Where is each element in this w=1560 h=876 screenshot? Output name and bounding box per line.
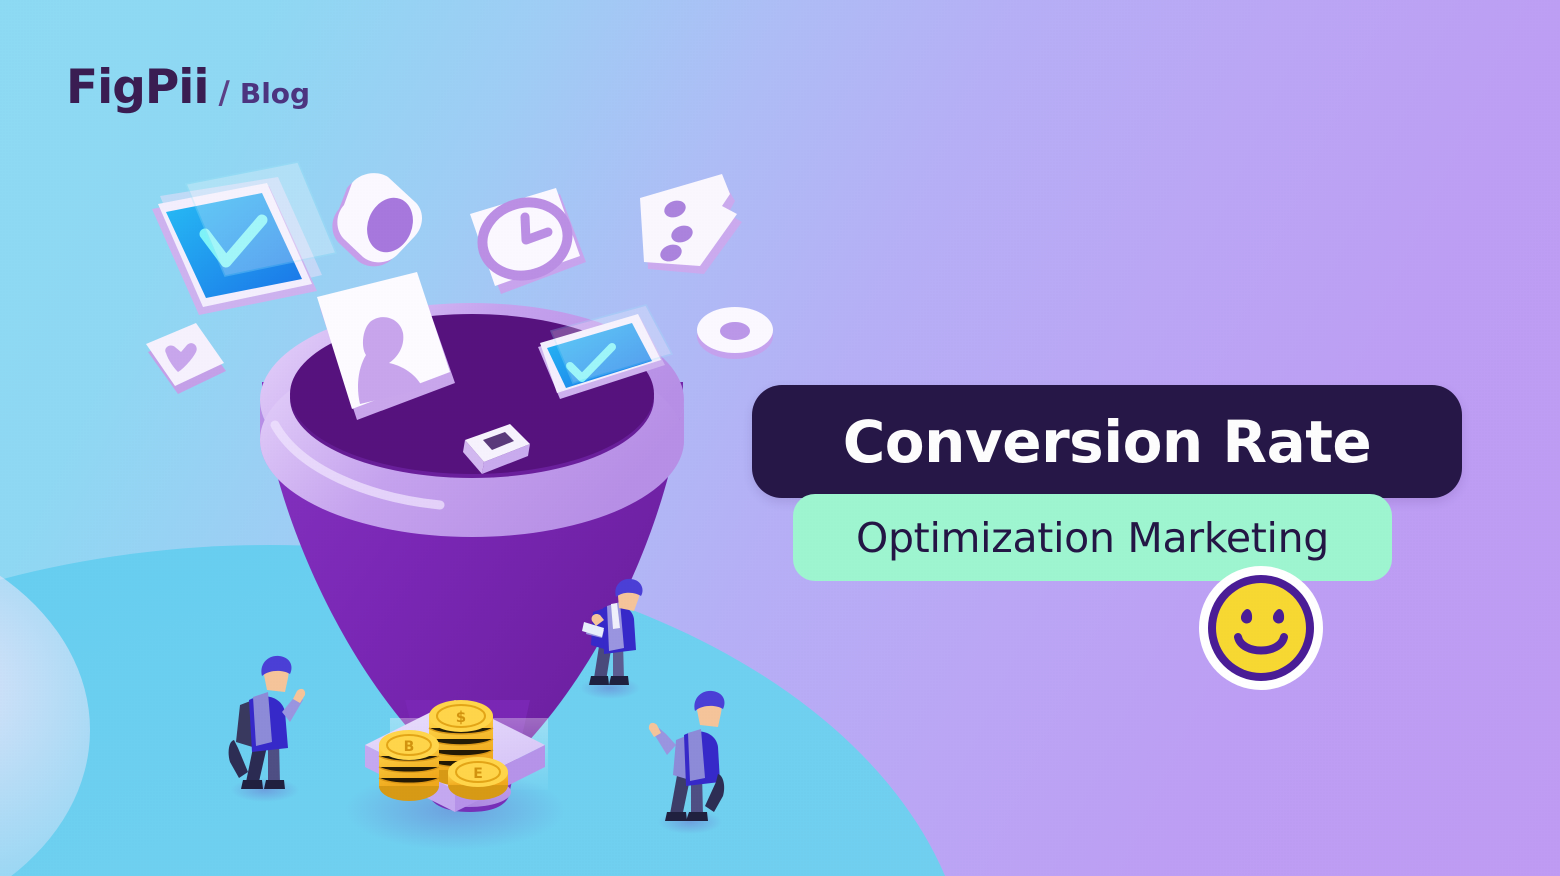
smiley-face-sticker <box>1196 563 1326 693</box>
page-title: Conversion Rate <box>843 408 1372 476</box>
smartphone-checkmark-icon-2 <box>538 305 672 399</box>
blog-hero-banner: $ B E <box>0 0 1560 876</box>
torus-ring-icon <box>697 307 773 359</box>
heart-card-icon <box>146 323 226 394</box>
chat-bubble-icon <box>640 174 742 274</box>
headline-primary-badge: Conversion Rate <box>752 385 1462 498</box>
toggle-switch-icon <box>332 173 422 266</box>
clock-icon <box>470 188 586 294</box>
site-logo[interactable]: FigPii / Blog <box>66 60 310 115</box>
user-profile-card-icon <box>317 272 455 420</box>
logo-wordmark: FigPii <box>66 60 209 115</box>
smartphone-checkmark-icon <box>152 162 336 315</box>
page-subtitle: Optimization Marketing <box>856 514 1329 562</box>
logo-section-label: Blog <box>240 77 310 110</box>
logo-separator: / <box>219 75 230 111</box>
ground-disc <box>0 545 970 876</box>
square-frame-icon <box>463 424 530 474</box>
